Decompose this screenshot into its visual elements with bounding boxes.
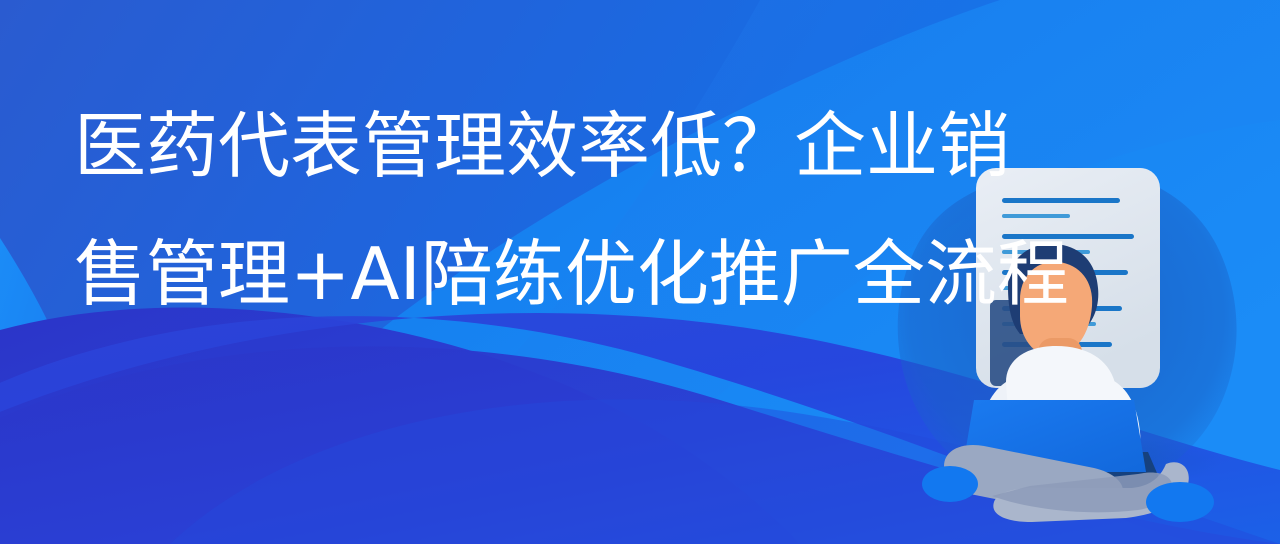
shoe-right <box>1146 482 1214 522</box>
person-with-laptop-illustration <box>880 150 1280 544</box>
promo-banner: 医药代表管理效率低？企业销 售管理+AI陪练优化推广全流程 <box>0 0 1280 544</box>
shoe-left <box>922 466 978 502</box>
